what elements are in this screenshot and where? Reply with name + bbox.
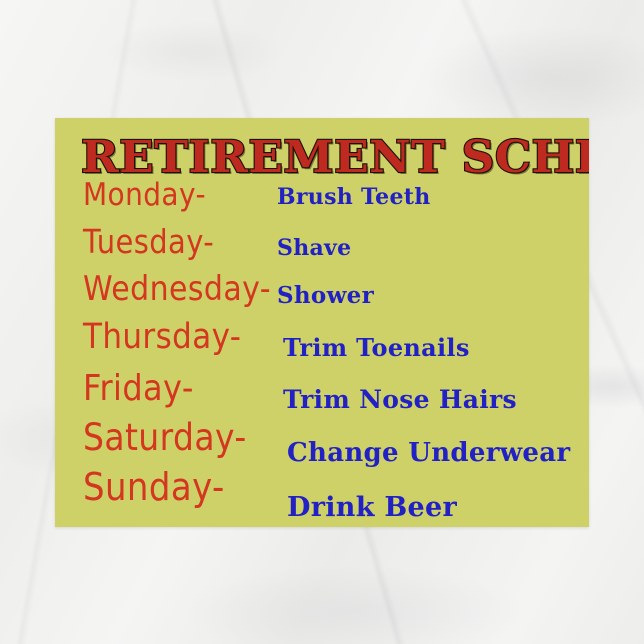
schedule-task-label: Shave: [277, 235, 351, 261]
background-surface: RETIREMENT SCHEDULE: Monday- Brush Teeth…: [0, 0, 644, 644]
schedule-task-label: Shower: [277, 282, 374, 309]
retirement-schedule-postcard: RETIREMENT SCHEDULE: Monday- Brush Teeth…: [55, 118, 589, 527]
schedule-day-label: Monday-: [83, 176, 206, 213]
schedule-day-label: Thursday-: [83, 317, 241, 357]
schedule-task-label: Trim Nose Hairs: [283, 385, 517, 414]
schedule-day-label: Sunday-: [83, 465, 225, 510]
page-title: RETIREMENT SCHEDULE:: [81, 134, 588, 182]
schedule-day-label: Tuesday-: [83, 223, 214, 261]
schedule-task-label: Brush Teeth: [277, 184, 431, 210]
schedule-task-label: Change Underwear: [287, 438, 570, 468]
schedule-task-label: Trim Toenails: [283, 333, 470, 362]
schedule-day-label: Saturday-: [83, 415, 247, 459]
schedule-day-label: Wednesday-: [83, 270, 271, 309]
schedule-list: Monday- Brush Teeth Tuesday- Shave Wedne…: [55, 180, 589, 527]
schedule-task-label: Drink Beer: [287, 492, 457, 523]
schedule-day-label: Friday-: [83, 366, 194, 409]
